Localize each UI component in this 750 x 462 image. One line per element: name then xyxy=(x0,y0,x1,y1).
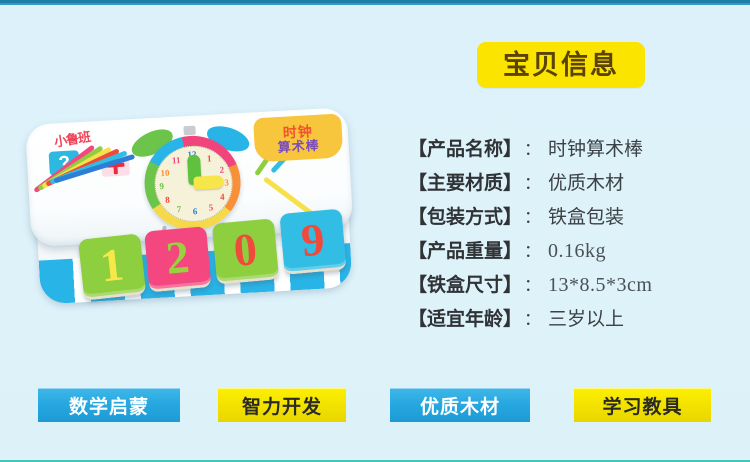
spec-value: 0.16kg xyxy=(548,240,606,263)
product-spec-list: 【产品名称】 ： 时钟算术棒 【主要材质】 ： 优质木材 【包装方式】 ： 铁盒… xyxy=(408,134,738,338)
number-tile: 9 xyxy=(279,209,346,275)
clock-numeral: 10 xyxy=(160,169,169,178)
spec-row: 【铁盒尺寸】 ： 13*8.5*3cm xyxy=(408,270,738,304)
clock-face: 12 1 2 3 4 5 6 7 8 9 10 11 xyxy=(153,144,235,224)
product-info-page: 小鲁班 ? xyxy=(0,0,750,462)
spec-colon: ： xyxy=(522,237,548,262)
spec-row: 【包装方式】 ： 铁盒包装 xyxy=(408,202,738,236)
spec-value: 13*8.5*3cm xyxy=(548,274,652,297)
clock-numeral: 7 xyxy=(177,205,182,214)
spec-label: 【产品名称】 xyxy=(408,134,522,161)
number-tile: 0 xyxy=(212,218,279,284)
toy-clock: 12 1 2 3 4 5 6 7 8 9 10 11 xyxy=(133,123,251,237)
clock-numeral: 8 xyxy=(165,196,170,205)
spec-label: 【铁盒尺寸】 xyxy=(408,270,522,297)
clock-knob xyxy=(183,126,195,136)
clock-numeral: 4 xyxy=(220,193,225,202)
spec-row: 【主要材质】 ： 优质木材 xyxy=(408,168,738,202)
spec-value: 三岁以上 xyxy=(548,304,624,331)
spec-value: 优质木材 xyxy=(548,168,624,195)
top-divider-light xyxy=(0,3,750,5)
clock-numeral: 5 xyxy=(208,203,213,212)
product-photo: 小鲁班 ? xyxy=(14,104,374,344)
spec-colon: ： xyxy=(522,305,548,330)
feature-tag-intelligence-development[interactable]: 智力开发 xyxy=(218,388,346,422)
clock-numeral: 6 xyxy=(193,207,198,216)
number-tile-digit: 0 xyxy=(232,226,259,274)
spec-label: 【主要材质】 xyxy=(408,168,522,195)
clock-minute-hand xyxy=(193,175,224,190)
feature-tag-math-enlightenment[interactable]: 数学启蒙 xyxy=(38,388,180,422)
clock-numeral: 1 xyxy=(207,154,212,163)
clock-numeral: 11 xyxy=(172,156,181,165)
spec-colon: ： xyxy=(522,135,548,160)
spec-row: 【产品重量】 ： 0.16kg xyxy=(408,236,738,270)
number-tile-digit: 1 xyxy=(98,241,126,289)
clock-numeral: 9 xyxy=(159,182,164,191)
spec-colon: ： xyxy=(522,203,548,228)
page-title-badge: 宝贝信息 xyxy=(477,42,645,88)
spec-row: 【适宜年龄】 ： 三岁以上 xyxy=(408,304,738,338)
spec-colon: ： xyxy=(522,169,548,194)
spec-label: 【产品重量】 xyxy=(408,236,522,263)
number-tile-digit: 2 xyxy=(164,234,191,282)
feature-tag-learning-aid[interactable]: 学习教具 xyxy=(574,388,711,422)
spec-label: 【适宜年龄】 xyxy=(408,304,522,331)
tin-box: 小鲁班 ? xyxy=(25,107,357,311)
number-tile: 2 xyxy=(144,226,211,292)
label-line-2: 算术棒 xyxy=(277,138,320,154)
page-title: 宝贝信息 xyxy=(503,52,619,79)
spec-row: 【产品名称】 ： 时钟算术棒 xyxy=(408,134,738,168)
number-tile: 1 xyxy=(78,233,146,300)
product-name-label: 时钟 算术棒 xyxy=(253,113,343,162)
spec-label: 【包装方式】 xyxy=(408,202,522,229)
spec-value: 时钟算术棒 xyxy=(548,134,643,161)
clock-numeral: 2 xyxy=(219,166,224,175)
number-tile-digit: 9 xyxy=(299,216,326,264)
feature-tag-quality-wood[interactable]: 优质木材 xyxy=(390,388,530,422)
spec-value: 铁盒包装 xyxy=(548,202,624,229)
clock-numeral: 3 xyxy=(224,178,229,187)
spec-colon: ： xyxy=(522,271,548,296)
